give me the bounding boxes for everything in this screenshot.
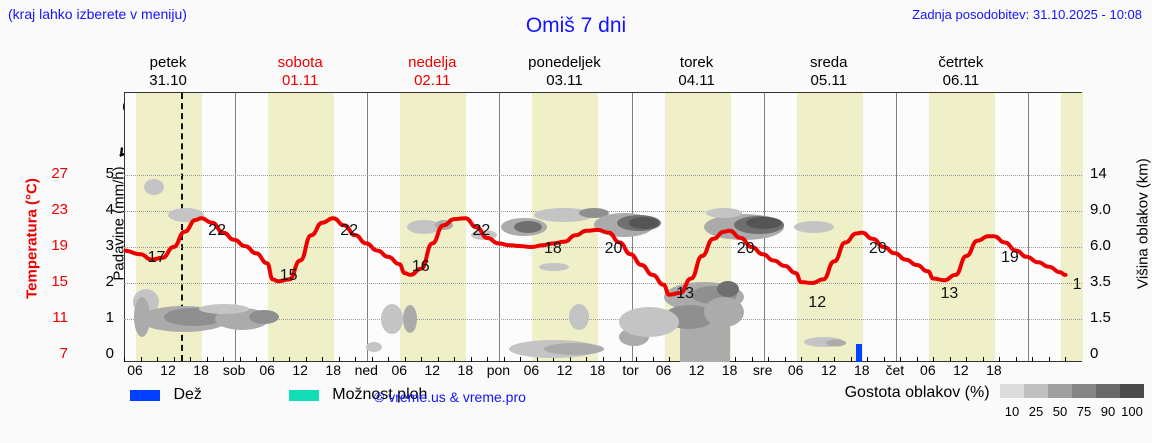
temperature-value-label: 17 [148,249,166,267]
x-tick-label: 18 [458,362,474,378]
cloud-density-swatch [1096,384,1120,398]
cloud-density-scale-numbers: 1025507590100 [1000,404,1144,419]
cloud-height-tick: 9.0 [1090,201,1130,218]
temperature-value-label: 16 [412,258,430,276]
day-name: sobota [230,54,370,72]
x-tick-label: 06 [391,362,407,378]
x-tick-label: 06 [524,362,540,378]
x-tick-label: 12 [160,362,176,378]
x-tick-label: 06 [127,362,143,378]
x-tick-label: 12 [953,362,969,378]
day-name: ponedeljek [494,54,634,72]
showers-color-swatch [289,390,319,401]
cloud-density-swatch [1120,384,1144,398]
temperature-tick: 19 [34,237,68,254]
x-tick-label: 18 [590,362,606,378]
day-date: 04.11 [627,72,767,90]
temperature-value-label: 19 [1001,249,1019,267]
temperature-tick: 7 [34,345,68,362]
precipitation-tick: 5 [88,165,114,182]
day-header-torek: torek04.11 [627,54,767,90]
temperature-value-label: 13 [676,285,694,303]
day-header-petek: petek31.10 [98,54,238,90]
temperature-value-label: 22 [340,222,358,240]
day-name: nedelja [362,54,502,72]
cloud-density-level: 90 [1096,404,1120,419]
x-tick-label: 12 [557,362,573,378]
day-date: 31.10 [98,72,238,90]
x-tick-label: 12 [292,362,308,378]
day-header-četrtek: četrtek06.11 [891,54,1031,90]
day-header-sreda: sreda05.11 [759,54,899,90]
x-tick-label: 18 [193,362,209,378]
precipitation-tick: 2 [88,273,114,290]
temperature-tick: 11 [34,309,68,326]
cloud-density-level: 75 [1072,404,1096,419]
cloud-density-level: 100 [1120,404,1144,419]
day-name: torek [627,54,767,72]
x-tick-label: sre [753,362,772,378]
x-tick-label: 12 [425,362,441,378]
precipitation-tick: 1 [88,309,114,326]
temperature-value-label: 14 [1073,276,1082,294]
cloud-density-gradient-bar [1000,384,1144,403]
temperature-line [124,167,1082,362]
x-tick-label: 12 [821,362,837,378]
cloud-density-level: 50 [1048,404,1072,419]
cloud-density-swatch [1048,384,1072,398]
day-name: četrtek [891,54,1031,72]
day-date: 02.11 [362,72,502,90]
x-tick-label: 06 [259,362,275,378]
day-name: sreda [759,54,899,72]
rain-legend-label: Dež [173,386,201,404]
day-header-nedelja: nedelja02.11 [362,54,502,90]
x-tick-label: 18 [325,362,341,378]
cloud-height-tick: 0 [1090,345,1130,362]
x-tick-label: 18 [986,362,1002,378]
temperature-value-label: 13 [940,285,958,303]
temperature-value-label: 20 [605,240,623,258]
cloud-height-axis-title: Višina oblakov (km) [1135,129,1152,319]
x-tick-label: 06 [920,362,936,378]
day-name: petek [98,54,238,72]
x-tick-label: 18 [722,362,738,378]
cloud-height-tick: 14 [1090,165,1130,182]
cloud-height-tick: 6.0 [1090,237,1130,254]
precipitation-tick: 0 [88,345,114,362]
temperature-value-label: 22 [472,222,490,240]
temperature-value-label: 18 [544,240,562,258]
cloud-height-tick: 3.5 [1090,273,1130,290]
chart-area: 172215221622182013201220131914 [124,167,1082,362]
last-update-text: Zadnja posodobitev: 31.10.2025 - 10:08 [912,7,1142,22]
day-header-sobota: sobota01.11 [230,54,370,90]
temperature-value-label: 12 [808,294,826,312]
cloud-density-level: 10 [1000,404,1024,419]
x-tick-label: ned [355,362,378,378]
x-tick-label: tor [622,362,638,378]
x-tick-label: 18 [854,362,870,378]
day-date: 06.11 [891,72,1031,90]
x-tick-label: 06 [656,362,672,378]
day-date: 05.11 [759,72,899,90]
temperature-tick: 27 [34,165,68,182]
temperature-value-label: 20 [737,240,755,258]
cloud-density-swatch [1000,384,1024,398]
day-date: 03.11 [494,72,634,90]
rain-color-swatch [130,390,160,401]
copyright-link[interactable]: © vreme.us & vreme.pro [374,389,526,405]
day-date: 01.11 [230,72,370,90]
x-tick-label: čet [885,362,904,378]
temperature-value-label: 15 [280,267,298,285]
cloud-height-tick: 1.5 [1090,309,1130,326]
day-header-ponedeljek: ponedeljek03.11 [494,54,634,90]
precipitation-tick: 3 [88,237,114,254]
precipitation-tick: 4 [88,201,114,218]
cloud-density-swatch [1024,384,1048,398]
x-tick-label: 12 [689,362,705,378]
x-tick-label: pon [487,362,510,378]
x-tick-label: sob [223,362,246,378]
temperature-tick: 15 [34,273,68,290]
cloud-density-legend: Gostota oblakov (%) 1025507590100 [845,384,1144,419]
temperature-value-label: 20 [869,240,887,258]
x-tick-label: 06 [788,362,804,378]
temperature-value-label: 22 [208,222,226,240]
cloud-density-swatch [1072,384,1096,398]
cloud-density-level: 25 [1024,404,1048,419]
cloud-density-legend-title: Gostota oblakov (%) [845,384,990,402]
temperature-tick: 23 [34,201,68,218]
